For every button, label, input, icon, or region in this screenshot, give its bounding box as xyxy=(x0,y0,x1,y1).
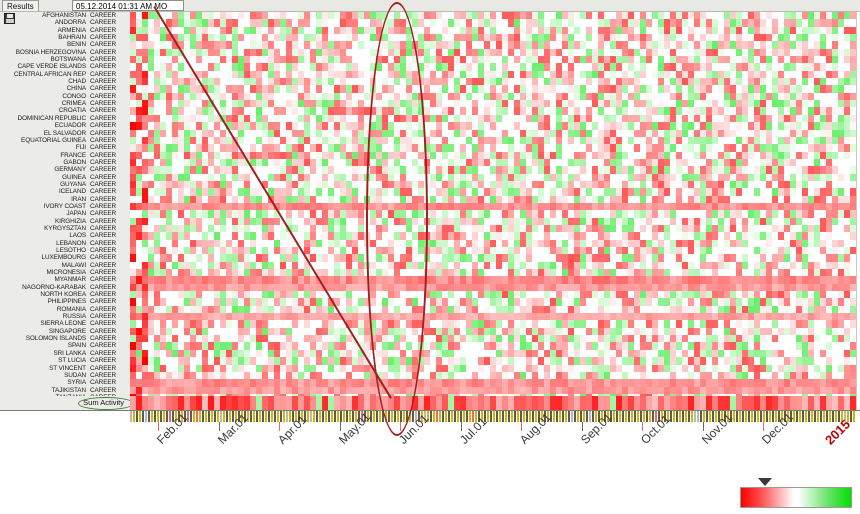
row-country-name: EQUATORIAL GUINEA xyxy=(21,137,86,144)
row-label-item[interactable]: EQUATORIAL GUINEACAREER xyxy=(0,137,130,144)
row-category-label: CAREER xyxy=(90,284,116,291)
row-category-label: CAREER xyxy=(90,107,116,114)
row-country-name: ST LUCIA xyxy=(58,357,86,364)
row-label-item[interactable]: SINGAPORECAREER xyxy=(0,328,130,335)
heatmap-row[interactable] xyxy=(130,93,856,100)
row-category-label: CAREER xyxy=(90,335,116,342)
row-label-item[interactable]: SIERRA LEONECAREER xyxy=(0,320,130,327)
row-label-item[interactable]: BOTSWANACAREER xyxy=(0,56,130,63)
heatmap-cell xyxy=(850,218,856,225)
row-country-name: AFGHANISTAN xyxy=(42,12,86,19)
row-country-name: MYANMAR xyxy=(55,276,87,283)
tab-results[interactable]: Results xyxy=(2,0,39,11)
row-category-label: CAREER xyxy=(90,276,116,283)
row-country-name: ECUADOR xyxy=(55,122,86,129)
heatmap-cell xyxy=(850,49,856,56)
row-country-name: FRANCE xyxy=(60,152,86,159)
row-label-item[interactable]: ICELANDCAREER xyxy=(0,188,130,195)
row-category-label: CAREER xyxy=(90,232,116,239)
row-country-name: CAPE VERDE ISLANDS xyxy=(17,63,86,70)
heatmap-row[interactable] xyxy=(130,291,856,298)
row-label-item[interactable]: SOLOMON ISLANDSCAREER xyxy=(0,335,130,342)
heatmap-cell xyxy=(850,152,856,159)
heatmap-row[interactable] xyxy=(130,100,856,107)
row-country-name: SINGAPORE xyxy=(49,328,86,335)
timestamp-field[interactable]: 05.12.2014 01:31 AM MO xyxy=(72,0,184,11)
row-category-label: CAREER xyxy=(90,19,116,26)
row-label-item[interactable]: ST VINCENTCAREER xyxy=(0,365,130,372)
heatmap-cell xyxy=(850,240,856,247)
heatmap-cell xyxy=(850,93,856,100)
row-label-item[interactable]: GUINEACAREER xyxy=(0,174,130,181)
row-country-name: FIJI xyxy=(76,144,86,151)
heatmap-row[interactable] xyxy=(130,49,856,56)
row-category-label: CAREER xyxy=(90,269,116,276)
window-toolbar: Results 05.12.2014 01:31 AM MO xyxy=(0,0,860,12)
heatmap-row[interactable] xyxy=(130,56,856,63)
row-country-name: KIRGHIZIA xyxy=(55,218,86,225)
heatmap-grid[interactable] xyxy=(130,12,857,396)
heatmap-row[interactable] xyxy=(130,12,856,19)
row-country-name: LEBANON xyxy=(56,240,86,247)
heatmap-row[interactable] xyxy=(130,85,856,92)
row-label-item[interactable]: CAPE VERDE ISLANDSCAREER xyxy=(0,63,130,70)
row-label-item[interactable]: CONGOCAREER xyxy=(0,93,130,100)
heatmap-cell xyxy=(850,291,856,298)
row-label-item[interactable]: KIRGHIZIACAREER xyxy=(0,218,130,225)
heatmap-row[interactable] xyxy=(130,115,856,122)
row-label-item[interactable]: NORTH KOREACAREER xyxy=(0,291,130,298)
row-label-item[interactable]: BOSNIA HERZEGOVINACAREER xyxy=(0,49,130,56)
heatmap-cell xyxy=(850,262,856,269)
heatmap-cell xyxy=(850,107,856,114)
row-country-name: CENTRAL AFRICAN REP xyxy=(14,71,86,78)
row-country-name: GUYANA xyxy=(60,181,86,188)
row-label-item[interactable]: ST LUCIACAREER xyxy=(0,357,130,364)
row-country-name: SIERRA LEONE xyxy=(40,320,86,327)
row-label-item[interactable]: LESOTHOCAREER xyxy=(0,247,130,254)
row-country-name: IRAN xyxy=(71,196,86,203)
row-label-item[interactable]: BAHRAINCAREER xyxy=(0,34,130,41)
row-label-item[interactable]: BENINCAREER xyxy=(0,41,130,48)
row-label-item[interactable]: PHILIPPINESCAREER xyxy=(0,298,130,305)
heatmap-row[interactable] xyxy=(130,78,856,85)
row-label-item[interactable]: CROATIACAREER xyxy=(0,107,130,114)
heatmap-cell xyxy=(850,130,856,137)
heatmap-cell xyxy=(850,232,856,239)
heatmap-cell xyxy=(850,196,856,203)
heatmap-cell xyxy=(850,254,856,261)
row-category-label: CAREER xyxy=(90,313,116,320)
heatmap-cell xyxy=(850,166,856,173)
heatmap-cell xyxy=(850,34,856,41)
row-label-item[interactable]: ECUADORCAREER xyxy=(0,122,130,129)
heatmap-cell xyxy=(850,41,856,48)
row-country-name: DOMINICAN REPUBLIC xyxy=(17,115,86,122)
heatmap-row[interactable] xyxy=(130,225,856,232)
heatmap-row[interactable] xyxy=(130,152,856,159)
row-country-name: BENIN xyxy=(67,41,86,48)
heatmap-cell xyxy=(850,78,856,85)
heatmap-cell xyxy=(850,284,856,291)
row-country-name: MALAWI xyxy=(62,262,86,269)
heatmap-cell xyxy=(850,181,856,188)
row-label-item[interactable]: LUXEMBOURGCAREER xyxy=(0,254,130,261)
row-label-item[interactable]: AFGHANISTANCAREER xyxy=(0,12,130,19)
heatmap-cell xyxy=(850,63,856,70)
heatmap-cell xyxy=(850,174,856,181)
row-label-panel: AFGHANISTANCAREERANDORRACAREERARMENIACAR… xyxy=(0,12,130,396)
heatmap-row[interactable] xyxy=(130,276,856,283)
row-category-label: CAREER xyxy=(90,247,116,254)
row-country-name: ANDORRA xyxy=(55,19,86,26)
heatmap-row[interactable] xyxy=(130,203,856,210)
heatmap-cell xyxy=(850,276,856,283)
heatmap-row[interactable] xyxy=(130,196,856,203)
row-category-label: CAREER xyxy=(90,350,116,357)
row-label-item[interactable]: MYANMARCAREER xyxy=(0,276,130,283)
row-country-name: NAGORNO-KARABAK xyxy=(22,284,86,291)
row-country-name: MICRONESIA xyxy=(47,269,86,276)
row-category-label: CAREER xyxy=(90,306,116,313)
row-country-name: BOTSWANA xyxy=(50,56,86,63)
heatmap-cell xyxy=(850,85,856,92)
heatmap-row[interactable] xyxy=(130,210,856,217)
heatmap-cell xyxy=(850,210,856,217)
row-category-label: CAREER xyxy=(90,159,116,166)
row-category-label: CAREER xyxy=(90,71,116,78)
heatmap-row[interactable] xyxy=(130,181,856,188)
heatmap-row[interactable] xyxy=(130,71,856,78)
row-category-label: CAREER xyxy=(90,144,116,151)
heatmap-cell xyxy=(850,12,856,19)
heatmap-row[interactable] xyxy=(130,159,856,166)
row-category-label: CAREER xyxy=(90,115,116,122)
row-label-item[interactable]: IVORY COASTCAREER xyxy=(0,203,130,210)
row-label-item[interactable]: ANDORRACAREER xyxy=(0,19,130,26)
row-category-label: CAREER xyxy=(90,225,116,232)
row-country-name: GERMANY xyxy=(54,166,86,173)
heatmap-row[interactable] xyxy=(130,130,856,137)
row-category-label: CAREER xyxy=(90,357,116,364)
heatmap-row[interactable] xyxy=(130,27,856,34)
row-label-list: AFGHANISTANCAREERANDORRACAREERARMENIACAR… xyxy=(0,12,130,396)
row-label-item[interactable]: FIJICAREER xyxy=(0,144,130,151)
heatmap-cell xyxy=(850,144,856,151)
row-country-name: JAPAN xyxy=(66,210,86,217)
row-category-label: CAREER xyxy=(90,152,116,159)
row-category-label: CAREER xyxy=(90,387,116,394)
row-country-name: LESOTHO xyxy=(56,247,86,254)
row-country-name: CONGO xyxy=(62,93,86,100)
heatmap-cell xyxy=(850,27,856,34)
row-country-name: ROMANIA xyxy=(57,306,86,313)
row-label-item[interactable]: MICRONESIACAREER xyxy=(0,269,130,276)
row-category-label: CAREER xyxy=(90,196,116,203)
row-country-name: CHAD xyxy=(68,78,86,85)
heatmap-row[interactable] xyxy=(130,166,856,173)
heatmap-row[interactable] xyxy=(130,107,856,114)
row-label-item[interactable]: NAGORNO-KARABAKCAREER xyxy=(0,284,130,291)
heatmap-row[interactable] xyxy=(130,218,856,225)
row-country-name: CHINA xyxy=(67,85,86,92)
row-country-name: RUSSIA xyxy=(63,313,86,320)
row-label-item[interactable]: JAPANCAREER xyxy=(0,210,130,217)
heatmap-cell xyxy=(850,188,856,195)
row-category-label: CAREER xyxy=(90,218,116,225)
row-category-label: CAREER xyxy=(90,298,116,305)
row-label-item[interactable]: KYRGYSZTANCAREER xyxy=(0,225,130,232)
row-country-name: GUINEA xyxy=(62,174,86,181)
heatmap-cell xyxy=(850,19,856,26)
row-country-name: TAJIKISTAN xyxy=(52,387,86,394)
row-category-label: CAREER xyxy=(90,254,116,261)
heatmap-row[interactable] xyxy=(130,174,856,181)
row-category-label: CAREER xyxy=(90,41,116,48)
heatmap-row[interactable] xyxy=(130,298,856,305)
row-country-name: LAOS xyxy=(69,232,86,239)
row-country-name: LUXEMBOURG xyxy=(42,254,86,261)
row-category-label: CAREER xyxy=(90,122,116,129)
row-category-label: CAREER xyxy=(90,365,116,372)
row-category-label: CAREER xyxy=(90,203,116,210)
row-country-name: BAHRAIN xyxy=(58,34,86,41)
heatmap-row[interactable] xyxy=(130,34,856,41)
heatmap-row[interactable] xyxy=(130,137,856,144)
heatmap-row[interactable] xyxy=(130,63,856,70)
row-label-item[interactable]: MALAWICAREER xyxy=(0,262,130,269)
heatmap-row[interactable] xyxy=(130,188,856,195)
row-category-label: CAREER xyxy=(90,166,116,173)
row-country-name: ARMENIA xyxy=(58,27,86,34)
row-category-label: CAREER xyxy=(90,49,116,56)
row-category-label: CAREER xyxy=(90,174,116,181)
row-label-item[interactable]: LEBANONCAREER xyxy=(0,240,130,247)
heatmap-cell xyxy=(850,137,856,144)
heatmap-cell xyxy=(850,203,856,210)
row-category-label: CAREER xyxy=(90,78,116,85)
row-category-label: CAREER xyxy=(90,93,116,100)
row-country-name: IVORY COAST xyxy=(44,203,86,210)
heatmap-cell xyxy=(850,247,856,254)
row-country-name: ST VINCENT xyxy=(49,365,86,372)
row-country-name: SYRIA xyxy=(67,379,86,386)
heatmap-cell xyxy=(850,225,856,232)
heatmap-cell xyxy=(850,159,856,166)
row-category-label: CAREER xyxy=(90,188,116,195)
row-category-label: CAREER xyxy=(90,137,116,144)
row-category-label: CAREER xyxy=(90,56,116,63)
heatmap-row[interactable] xyxy=(130,41,856,48)
row-label-item[interactable]: SYRIACAREER xyxy=(0,379,130,386)
heatmap-cell xyxy=(850,71,856,78)
row-label-item[interactable]: RUSSIACAREER xyxy=(0,313,130,320)
heatmap-row[interactable] xyxy=(130,254,856,261)
row-category-label: CAREER xyxy=(90,181,116,188)
row-label-item[interactable]: IRANCAREER xyxy=(0,196,130,203)
row-category-label: CAREER xyxy=(90,372,116,379)
row-category-label: CAREER xyxy=(90,34,116,41)
row-category-label: CAREER xyxy=(90,85,116,92)
heatmap-row[interactable] xyxy=(130,284,856,291)
heatmap-cell xyxy=(850,56,856,63)
heatmap-row[interactable] xyxy=(130,19,856,26)
row-category-label: CAREER xyxy=(90,291,116,298)
row-label-item[interactable]: GERMANYCAREER xyxy=(0,166,130,173)
row-label-item[interactable]: GABONCAREER xyxy=(0,159,130,166)
heatmap-row[interactable] xyxy=(130,122,856,129)
row-label-item[interactable]: ROMANIACAREER xyxy=(0,306,130,313)
row-country-name: KYRGYSZTAN xyxy=(44,225,86,232)
row-label-item[interactable]: FRANCECAREER xyxy=(0,152,130,159)
row-label-item[interactable]: LAOSCAREER xyxy=(0,232,130,239)
row-category-label: CAREER xyxy=(90,130,116,137)
row-country-name: ICELAND xyxy=(59,188,86,195)
row-country-name: PHILIPPINES xyxy=(48,298,86,305)
row-label-item[interactable]: EL SALVADORCAREER xyxy=(0,130,130,137)
heatmap-application-window: Results 05.12.2014 01:31 AM MO AFGHANIST… xyxy=(0,0,860,514)
row-country-name: BOSNIA HERZEGOVINA xyxy=(16,49,86,56)
row-label-item[interactable]: CENTRAL AFRICAN REPCAREER xyxy=(0,71,130,78)
row-category-label: CAREER xyxy=(90,100,116,107)
row-label-item[interactable]: CRIMEACAREER xyxy=(0,100,130,107)
row-category-label: CAREER xyxy=(90,27,116,34)
row-category-label: CAREER xyxy=(90,210,116,217)
row-country-name: SOLOMON ISLANDS xyxy=(26,335,86,342)
row-category-label: CAREER xyxy=(90,342,116,349)
row-category-label: CAREER xyxy=(90,320,116,327)
heatmap-cell xyxy=(850,122,856,129)
row-country-name: NORTH KOREA xyxy=(40,291,86,298)
row-label-item[interactable]: CHADCAREER xyxy=(0,78,130,85)
heatmap-row[interactable] xyxy=(130,269,856,276)
row-category-label: CAREER xyxy=(90,240,116,247)
heatmap-row[interactable] xyxy=(130,262,856,269)
row-label-item[interactable]: ARMENIACAREER xyxy=(0,27,130,34)
heatmap-cell xyxy=(850,100,856,107)
row-label-item[interactable]: SPAINCAREER xyxy=(0,342,130,349)
row-label-item[interactable]: SRI LANKACAREER xyxy=(0,350,130,357)
row-category-label: CAREER xyxy=(90,262,116,269)
row-country-name: CRIMEA xyxy=(62,100,86,107)
row-category-label: CAREER xyxy=(90,328,116,335)
row-country-name: GABON xyxy=(63,159,86,166)
row-country-name: SPAIN xyxy=(68,342,86,349)
row-country-name: EL SALVADOR xyxy=(44,130,86,137)
heatmap-cell xyxy=(850,269,856,276)
row-country-name: SRI LANKA xyxy=(54,350,87,357)
row-country-name: CROATIA xyxy=(59,107,86,114)
row-category-label: CAREER xyxy=(90,379,116,386)
row-label-item[interactable]: DOMINICAN REPUBLICCAREER xyxy=(0,115,130,122)
row-country-name: SUDAN xyxy=(64,372,86,379)
heatmap-row[interactable] xyxy=(130,247,856,254)
heatmap-row[interactable] xyxy=(130,240,856,247)
row-category-label: CAREER xyxy=(90,12,116,19)
row-label-item[interactable]: SUDANCAREER xyxy=(0,372,130,379)
row-label-item[interactable]: GUYANACAREER xyxy=(0,181,130,188)
row-category-label: CAREER xyxy=(90,63,116,70)
heatmap-cell xyxy=(850,115,856,122)
heatmap-row[interactable] xyxy=(130,232,856,239)
row-label-item[interactable]: CHINACAREER xyxy=(0,85,130,92)
row-label-item[interactable]: TAJIKISTANCAREER xyxy=(0,387,130,394)
